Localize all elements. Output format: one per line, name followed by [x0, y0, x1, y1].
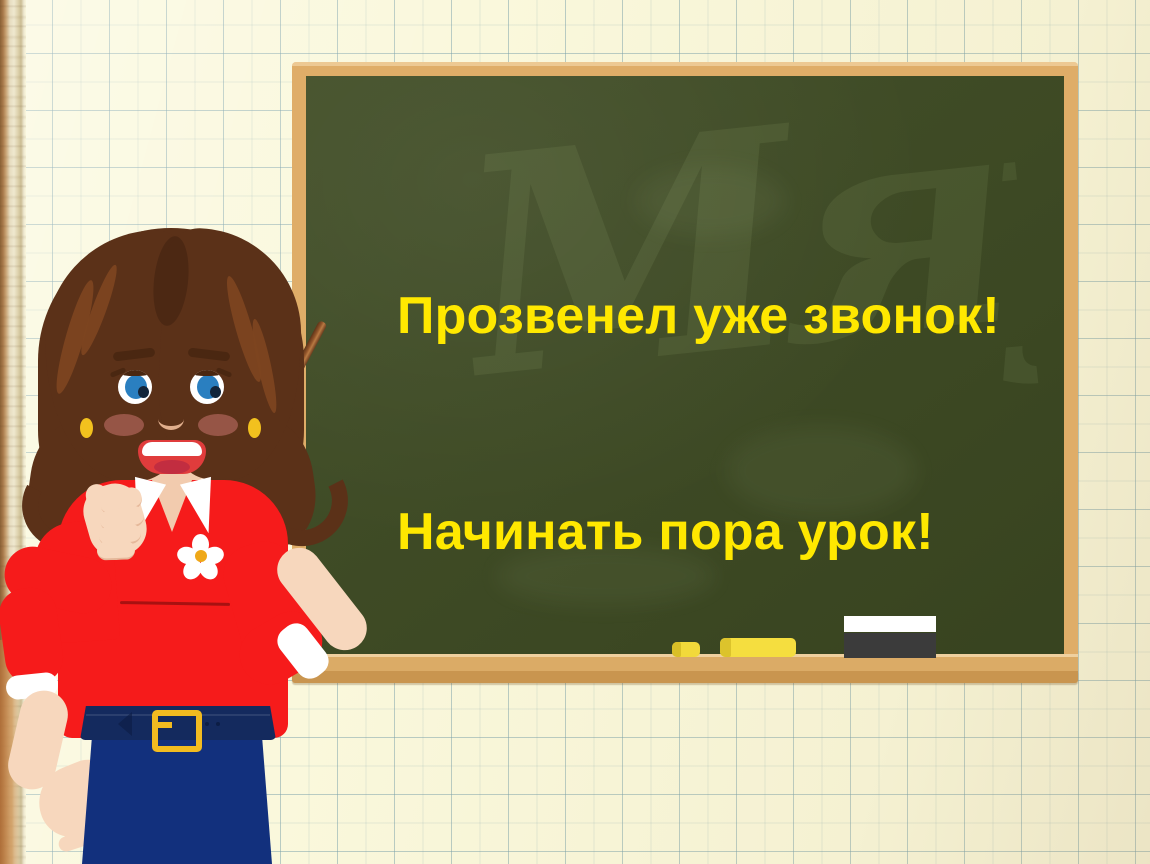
daisy-flower-brooch — [180, 534, 222, 576]
finger-right — [97, 540, 136, 560]
teeth — [142, 442, 202, 456]
eye-right — [190, 370, 224, 404]
frame-highlight — [292, 62, 1078, 66]
chalk-piece-large-icon — [720, 638, 796, 657]
chalkboard-surface: Мяу Прозвенел уже звонок! Начинать пора … — [306, 76, 1064, 654]
pupil-left — [138, 386, 149, 398]
poem-line-1: Прозвенел уже звонок! — [397, 280, 1057, 352]
earring-left — [80, 418, 93, 438]
smiling-mouth — [138, 440, 206, 474]
cheek-blush-left — [104, 414, 144, 436]
iris-right — [197, 375, 219, 399]
belt-buckle — [152, 710, 202, 752]
belt-hole — [216, 722, 220, 726]
teacher-character — [0, 222, 340, 864]
eraser-body — [844, 633, 936, 658]
chalk-ledge-lip — [292, 671, 1078, 683]
chalkboard-poem: Прозвенел уже звонок! Начинать пора урок… — [397, 136, 1057, 654]
pupil-right — [210, 386, 221, 398]
board-eraser-icon — [844, 616, 936, 658]
chalkboard: Мяу Прозвенел уже звонок! Начинать пора … — [292, 62, 1078, 683]
slide-canvas: shpora.net Мяу Прозвенел уже звонок! Нач… — [0, 0, 1150, 864]
eye-left — [118, 370, 152, 404]
belt-hole — [205, 722, 209, 726]
nose — [158, 408, 184, 430]
cheek-blush-right — [198, 414, 238, 436]
eraser-felt-top — [844, 616, 936, 632]
chalk-piece-small-icon — [672, 642, 700, 657]
poem-line-2: Начинать пора урок! — [397, 496, 1057, 568]
tongue — [154, 460, 190, 474]
iris-left — [125, 375, 147, 399]
earring-right — [248, 418, 261, 438]
belt-notch — [118, 712, 132, 736]
belt-buckle-prong — [152, 722, 172, 728]
daisy-center — [195, 550, 207, 562]
